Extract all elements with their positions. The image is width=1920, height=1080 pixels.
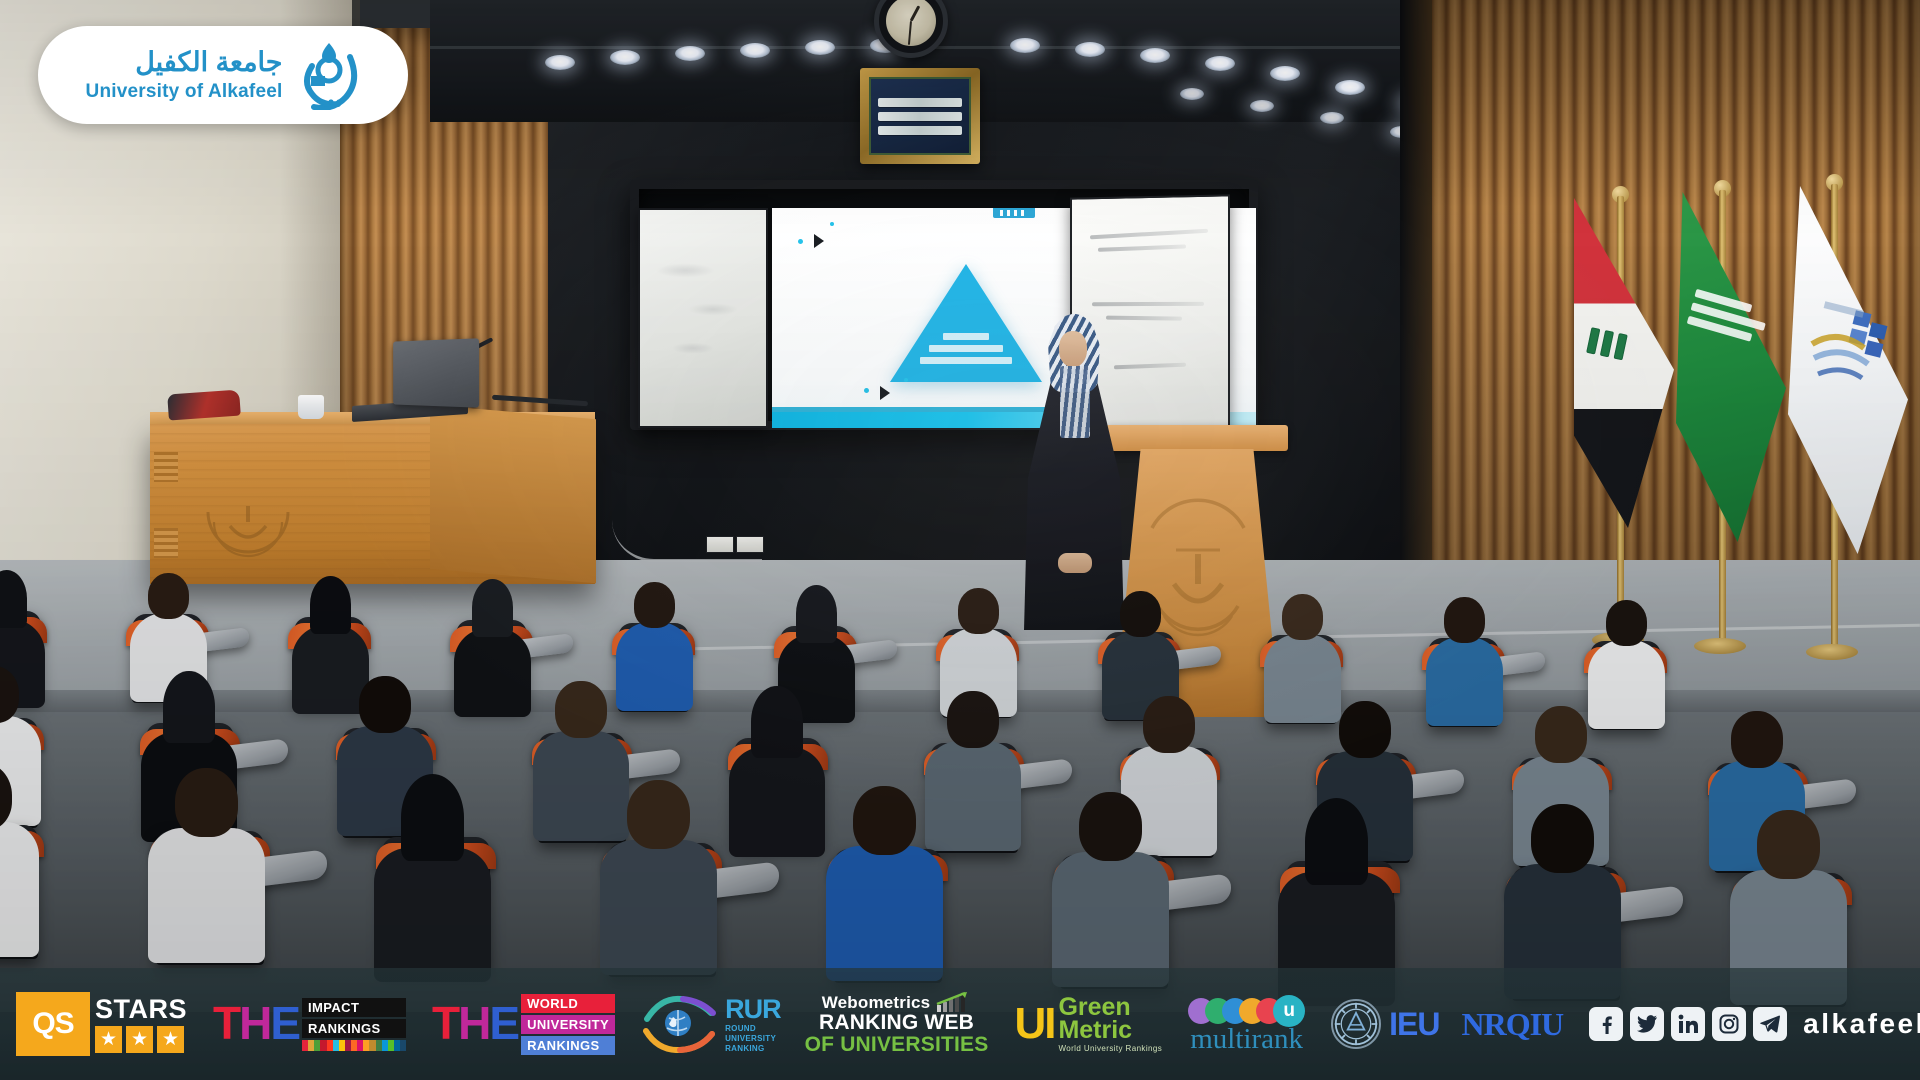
star-icon: ★	[126, 1026, 153, 1053]
audience-torso	[374, 848, 490, 982]
laptop-screen	[393, 338, 479, 407]
ceiling-spotlight	[1335, 80, 1365, 95]
wur-line-2: UNIVERSITY	[521, 1015, 615, 1034]
webometrics-top-row: Webometrics	[822, 992, 972, 1012]
audience-hijab	[796, 585, 837, 643]
clock-face	[886, 0, 936, 46]
social-icon-row	[1589, 1007, 1787, 1041]
audience-hijab	[751, 686, 803, 758]
badge-text-block: جامعة الكفيل University of Alkafeel	[86, 49, 283, 101]
pyramid-text-row	[929, 345, 1003, 352]
calligraphy-line	[878, 98, 962, 107]
impact-line-2: RANKINGS	[302, 1019, 406, 1038]
ceiling-spotlight	[1320, 112, 1344, 124]
audience-head	[1339, 701, 1391, 758]
dot-accent-icon	[904, 378, 908, 382]
audience-torso	[533, 731, 629, 841]
bar-chart-arrow-icon	[935, 992, 971, 1012]
ceiling-spotlight	[545, 55, 575, 70]
alkafeel-emblem-icon	[298, 40, 360, 110]
instagram-icon[interactable]	[1712, 1007, 1746, 1041]
flag-university-logo	[1806, 300, 1898, 408]
desk-side-face	[430, 405, 596, 584]
audience-head	[1531, 804, 1594, 873]
multirank-u-badge: u	[1273, 995, 1305, 1027]
presenter-face	[1059, 331, 1087, 367]
handwriting-line	[1098, 244, 1186, 251]
ceiling-spotlight	[805, 40, 835, 55]
audience-head	[1606, 600, 1647, 646]
audience-hijab	[310, 576, 351, 634]
audience-torso	[148, 828, 264, 962]
badge-arabic-title: جامعة الكفيل	[135, 49, 282, 76]
audience-torso	[616, 622, 693, 711]
whiteboard-blank	[638, 208, 768, 428]
audience-head	[555, 681, 607, 738]
greenmetric-subtitle: World University Rankings	[1058, 1045, 1162, 1052]
webometrics-title: Webometrics	[822, 994, 931, 1012]
calligraphy-line	[878, 126, 962, 135]
audience-torso	[925, 741, 1021, 851]
ceiling-spotlight	[1180, 88, 1204, 100]
greenmetric-text-block: Green Metric World University Rankings	[1058, 996, 1162, 1052]
audience-head	[1079, 792, 1142, 861]
triangle-accent-icon	[880, 386, 890, 400]
artwork-canvas	[869, 77, 971, 155]
audience-head	[148, 573, 189, 619]
audience-head	[175, 768, 238, 837]
the-brand-mark: THE	[432, 1003, 518, 1044]
sdg-color-strip	[302, 1040, 406, 1051]
greenmetric-line-2: Metric	[1058, 1019, 1162, 1042]
qs-mark: QS	[16, 992, 90, 1056]
rur-sub-2: UNIVERSITY	[725, 1035, 781, 1043]
audience-head	[627, 780, 690, 849]
qs-stars-logo[interactable]: QS STARS ★ ★ ★	[16, 992, 187, 1056]
audience-torso	[454, 628, 531, 717]
clock-hour-hand	[910, 5, 921, 21]
audience-torso	[826, 846, 942, 980]
the-brand-mark: THE	[213, 1003, 299, 1044]
ceiling-spotlight	[610, 50, 640, 65]
audience-head	[359, 676, 411, 733]
clock-minute-hand	[908, 21, 912, 45]
audience-torso	[292, 625, 369, 714]
accreditation-bar: QS STARS ★ ★ ★ THE IMPACT RANKINGS THE	[0, 968, 1920, 1080]
nrqiu-logo[interactable]: NRQIU	[1461, 1006, 1563, 1043]
facebook-icon[interactable]	[1589, 1007, 1623, 1041]
audience-head	[1731, 711, 1783, 768]
audience-torso	[1264, 634, 1341, 723]
audience-hijab	[472, 579, 513, 637]
audience-seating	[0, 640, 1920, 1010]
greenmetric-ui-mark: UI	[1014, 1005, 1054, 1042]
presenter-hands	[1058, 553, 1092, 573]
ieu-seal-icon	[1331, 999, 1381, 1049]
twitter-icon[interactable]	[1630, 1007, 1664, 1041]
audience-head	[958, 588, 999, 634]
ceiling-spotlight	[1270, 66, 1300, 81]
framed-calligraphy-artwork	[860, 68, 980, 164]
audience-head	[1444, 597, 1485, 643]
wur-line-3: RANKINGS	[521, 1036, 615, 1055]
sdg-color-block	[400, 1040, 406, 1051]
wur-stack: WORLD UNIVERSITY RANKINGS	[521, 994, 615, 1055]
audience-head	[1120, 591, 1161, 637]
impact-rankings-stack: IMPACT RANKINGS	[302, 998, 406, 1051]
audience-torso	[0, 822, 39, 956]
rur-logo[interactable]: RUR ROUND UNIVERSITY RANKING	[643, 995, 781, 1053]
female-presenter	[1020, 310, 1128, 630]
ceiling-spotlight	[1010, 38, 1040, 53]
qs-right-block: STARS ★ ★ ★	[95, 992, 187, 1056]
audience-head	[1143, 696, 1195, 753]
desk-notch	[154, 452, 178, 482]
ceiling-spotlight	[1205, 56, 1235, 71]
desk-bag	[167, 390, 241, 421]
audience-hijab	[163, 671, 215, 743]
event-photograph	[0, 0, 1920, 1080]
podium-top	[1106, 425, 1288, 451]
slide-top-tab	[993, 208, 1035, 218]
desk-university-seal	[200, 492, 296, 564]
audience-head	[1757, 810, 1820, 879]
ceiling-spotlight	[1075, 42, 1105, 57]
star-icon: ★	[95, 1026, 122, 1053]
audience-hijab	[1305, 798, 1368, 885]
multirank-dot-row: u	[1188, 995, 1305, 1027]
audience-head	[853, 786, 916, 855]
wur-line-1: WORLD	[521, 994, 615, 1013]
audience-head	[634, 582, 675, 628]
pyramid-text-row	[943, 333, 989, 340]
qs-label: QS	[32, 1007, 73, 1041]
ceiling-spotlight	[1250, 100, 1274, 112]
audience-torso	[1426, 637, 1503, 726]
whiteboard-faint-marks	[640, 210, 766, 426]
ceiling-spotlight	[1140, 48, 1170, 63]
audience-torso	[1052, 852, 1168, 986]
desk-cup	[298, 395, 324, 419]
handwriting-line	[1092, 302, 1204, 306]
the-world-university-rankings-logo[interactable]: THE WORLD UNIVERSITY RANKINGS	[432, 994, 615, 1055]
screenshot-root: جامعة الكفيل University of Alkafeel QS S…	[0, 0, 1920, 1080]
telegram-icon[interactable]	[1753, 1007, 1787, 1041]
rur-globe-eye-icon	[643, 995, 717, 1053]
ieu-title: IEU	[1389, 1006, 1439, 1043]
audience-torso	[729, 747, 825, 857]
webometrics-line-2: OF UNIVERSITIES	[805, 1034, 989, 1056]
qs-stars-label: STARS	[95, 996, 187, 1023]
presenter-scarf	[1060, 366, 1090, 438]
ieu-logo[interactable]: IEU	[1331, 999, 1439, 1049]
qs-star-row: ★ ★ ★	[95, 1026, 187, 1053]
impact-line-1: IMPACT	[302, 998, 406, 1017]
u-multirank-logo[interactable]: u multirank	[1188, 995, 1305, 1054]
dot-accent-icon	[798, 239, 803, 244]
desk-notch	[154, 528, 178, 558]
rur-sub-1: ROUND	[725, 1025, 781, 1033]
dot-accent-icon	[864, 388, 869, 393]
webometrics-line-1: RANKING WEB	[819, 1012, 974, 1034]
audience-hijab	[401, 774, 464, 861]
badge-english-title: University of Alkafeel	[86, 82, 283, 101]
audience-head	[947, 691, 999, 748]
dot-accent-icon	[830, 222, 834, 226]
webometrics-logo[interactable]: Webometrics RANKING WEB OF UNIVERSITIES	[805, 992, 989, 1056]
star-icon: ★	[157, 1026, 184, 1053]
audience-torso	[600, 840, 716, 974]
calligraphy-line	[878, 112, 962, 121]
university-logo-badge[interactable]: جامعة الكفيل University of Alkafeel	[38, 26, 408, 124]
audience-head	[1282, 594, 1323, 640]
the-impact-rankings-logo[interactable]: THE IMPACT RANKINGS	[213, 998, 406, 1051]
audience-head	[1535, 706, 1587, 763]
ceiling-spotlight	[675, 46, 705, 61]
rur-title: RUR	[725, 996, 781, 1023]
linkedin-icon[interactable]	[1671, 1007, 1705, 1041]
pyramid-text-row	[920, 357, 1012, 364]
rur-text-block: RUR ROUND UNIVERSITY RANKING	[725, 996, 781, 1053]
triangle-accent-icon	[814, 234, 824, 248]
handwriting-line	[1090, 229, 1208, 240]
ceiling-spotlight	[740, 43, 770, 58]
multirank-title: multirank	[1190, 1025, 1303, 1054]
ui-greenmetric-logo[interactable]: UI Green Metric World University Ranking…	[1014, 996, 1162, 1052]
rur-sub-3: RANKING	[725, 1045, 781, 1053]
social-handle: alkafeeleduiq	[1803, 1008, 1920, 1040]
audience-torso	[1588, 640, 1665, 729]
floor-cable	[612, 520, 762, 562]
